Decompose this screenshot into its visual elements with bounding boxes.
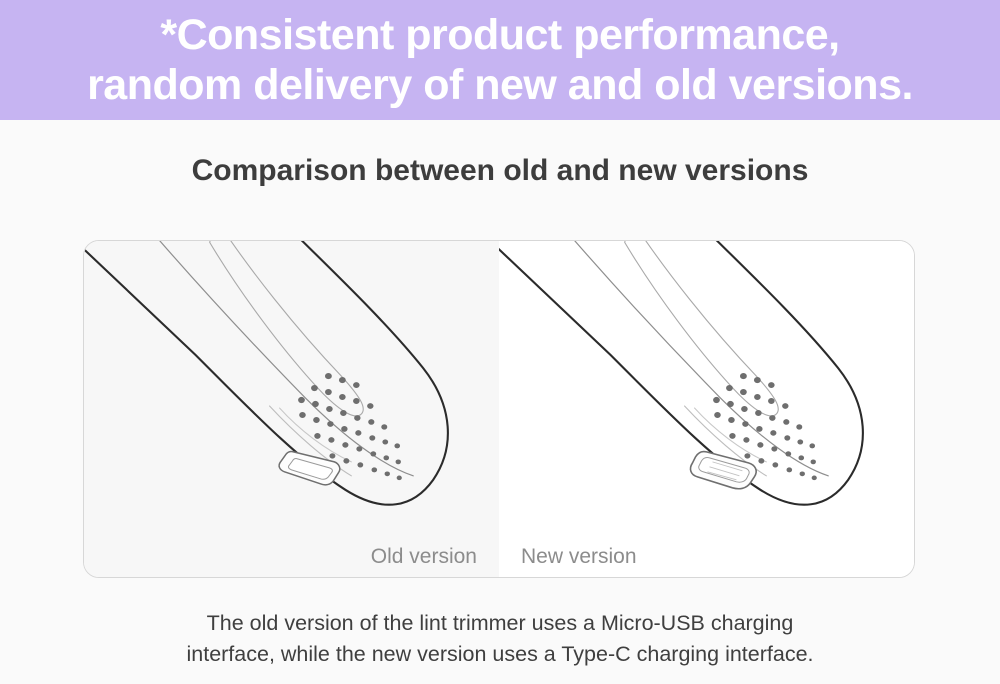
caption: The old version of the lint trimmer uses… bbox=[60, 608, 940, 670]
banner-line-2: random delivery of new and old versions. bbox=[87, 60, 913, 110]
product-comparison-page: *Consistent product performance, random … bbox=[0, 0, 1000, 684]
banner: *Consistent product performance, random … bbox=[0, 0, 1000, 120]
banner-line-1: *Consistent product performance, bbox=[160, 10, 839, 60]
new-version-label: New version bbox=[521, 545, 637, 569]
new-version-trimmer-illustration bbox=[499, 241, 914, 577]
old-version-label: Old version bbox=[371, 545, 477, 569]
caption-line-1: The old version of the lint trimmer uses… bbox=[60, 608, 940, 639]
comparison-panel: Old version bbox=[83, 240, 915, 578]
section-title: Comparison between old and new versions bbox=[0, 152, 1000, 190]
new-version-pane: New version bbox=[499, 241, 914, 577]
old-version-pane: Old version bbox=[84, 241, 499, 577]
old-version-trimmer-illustration bbox=[84, 241, 499, 577]
caption-line-2: interface, while the new version uses a … bbox=[60, 639, 940, 670]
